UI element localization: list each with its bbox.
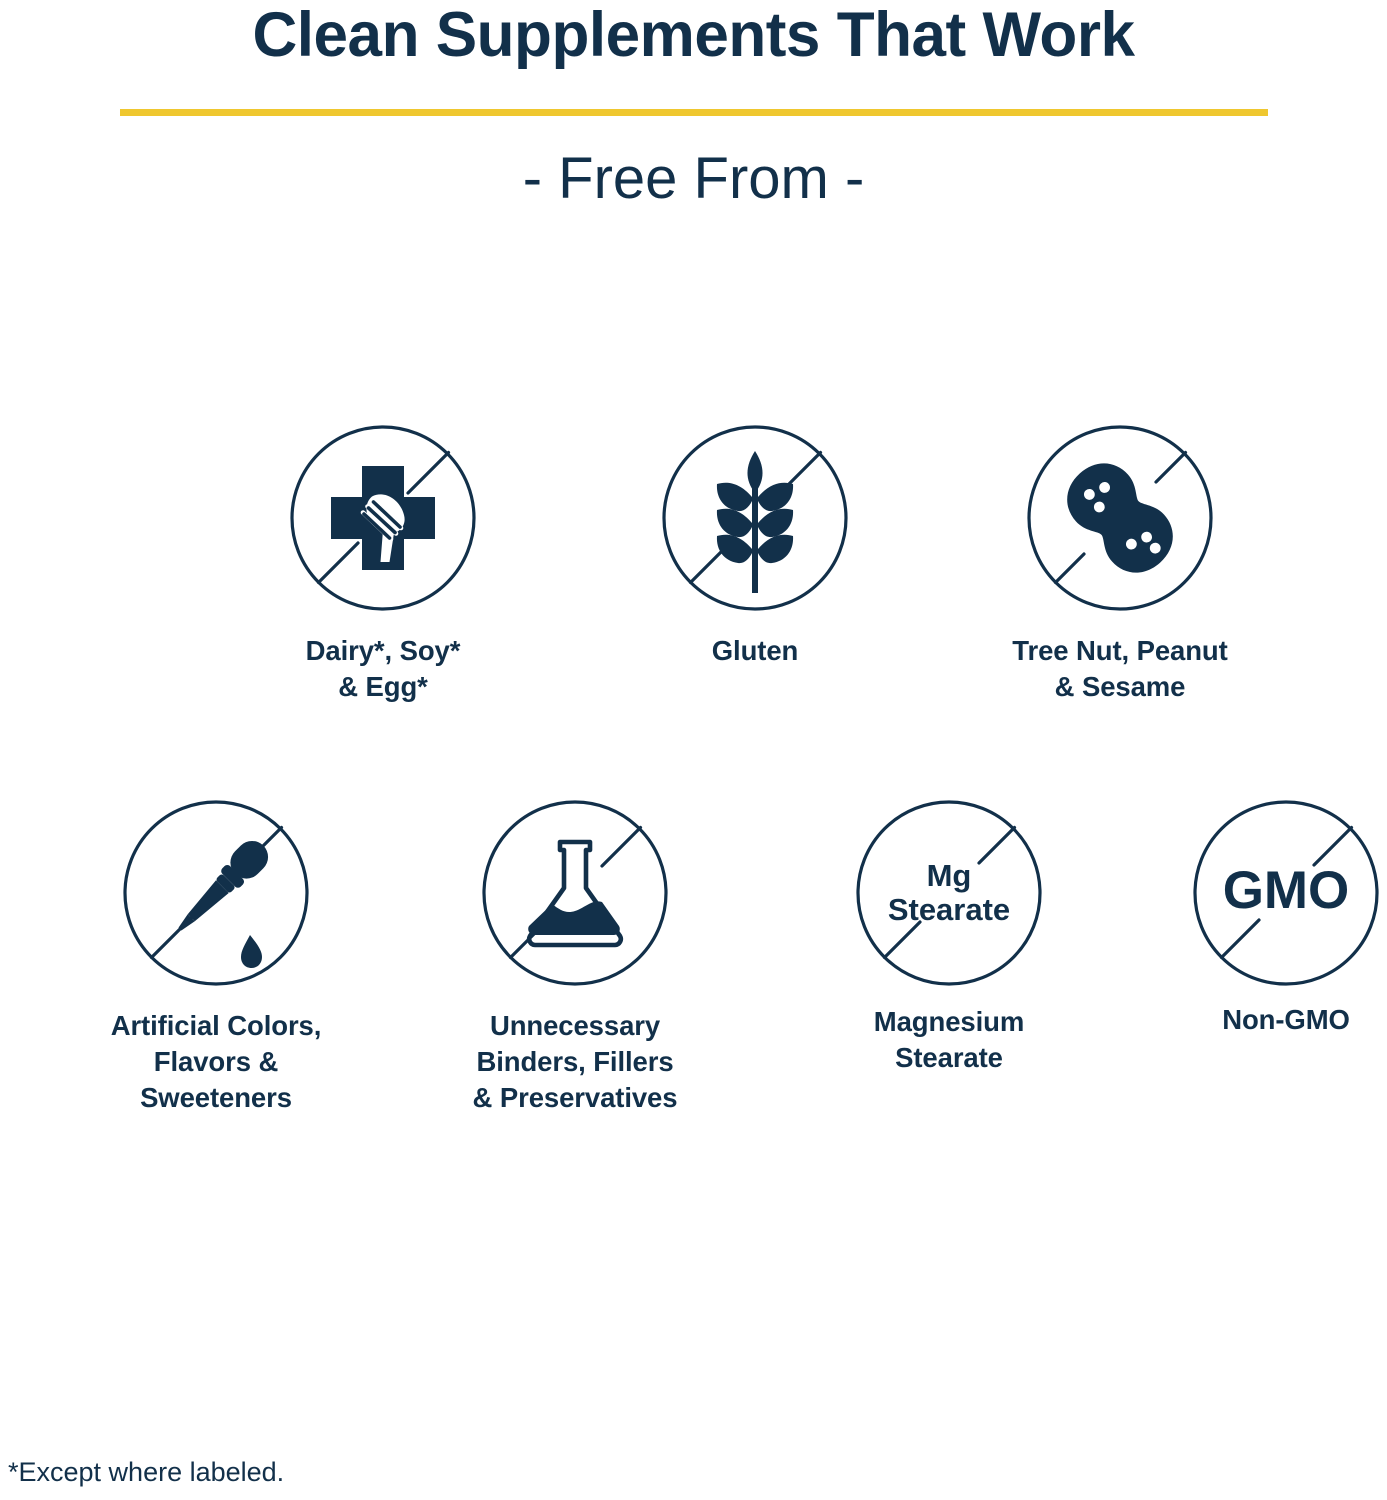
free-from-item-gluten: Gluten <box>605 423 905 669</box>
label-line-1: Unnecessary <box>425 1008 725 1044</box>
free-from-item-label: Tree Nut, Peanut & Sesame <box>970 633 1270 705</box>
free-from-item-label: Dairy*, Soy* & Egg* <box>233 633 533 705</box>
label-line-2: Binders, Fillers <box>425 1044 725 1080</box>
medical-cross-fork-icon <box>288 423 478 613</box>
eyedropper-icon <box>121 798 311 988</box>
wheat-stalk-icon <box>660 423 850 613</box>
free-from-item-label: Gluten <box>605 633 905 669</box>
label-line-1: Magnesium <box>799 1004 1099 1040</box>
label-line-1: Gluten <box>605 633 905 669</box>
label-line-3: Sweeteners <box>66 1080 366 1116</box>
peanut-icon <box>1025 423 1215 613</box>
badge-text-line-1: GMO <box>1223 861 1350 920</box>
label-line-2: & Egg* <box>233 669 533 705</box>
erlenmeyer-flask-icon <box>480 798 670 988</box>
free-from-item-magnesium-stearate: Mg Stearate Magnesium Stearate <box>799 798 1099 1076</box>
free-from-item-label: Unnecessary Binders, Fillers & Preservat… <box>425 1008 725 1116</box>
free-from-item-label: Magnesium Stearate <box>799 1004 1099 1076</box>
free-from-item-binders-fillers: Unnecessary Binders, Fillers & Preservat… <box>425 798 725 1116</box>
free-from-item-tree-nut-peanut-sesame: Tree Nut, Peanut & Sesame <box>970 423 1270 705</box>
label-line-1: Non-GMO <box>1136 1002 1387 1038</box>
label-line-3: & Preservatives <box>425 1080 725 1116</box>
badge-text-line-2: Stearate <box>888 892 1010 927</box>
label-line-1: Tree Nut, Peanut <box>970 633 1270 669</box>
label-line-1: Dairy*, Soy* <box>233 633 533 669</box>
mg-stearate-text-icon: Mg Stearate <box>854 798 1044 988</box>
free-from-item-non-gmo: GMO Non-GMO <box>1136 798 1387 1038</box>
free-from-item-artificial-colors: Artificial Colors, Flavors & Sweeteners <box>66 798 366 1116</box>
badge-text-line-1: Mg <box>927 858 972 893</box>
free-from-item-label: Non-GMO <box>1136 1002 1387 1038</box>
label-line-2: Flavors & <box>66 1044 366 1080</box>
footnote: *Except where labeled. <box>8 1455 284 1489</box>
free-from-item-label: Artificial Colors, Flavors & Sweeteners <box>66 1008 366 1116</box>
label-line-2: Stearate <box>799 1040 1099 1076</box>
free-from-icon-grid: Dairy*, Soy* & Egg* <box>0 0 1387 1500</box>
gmo-text-icon: GMO <box>1191 798 1381 988</box>
label-line-2: & Sesame <box>970 669 1270 705</box>
label-line-1: Artificial Colors, <box>66 1008 366 1044</box>
free-from-item-dairy-soy-egg: Dairy*, Soy* & Egg* <box>233 423 533 705</box>
